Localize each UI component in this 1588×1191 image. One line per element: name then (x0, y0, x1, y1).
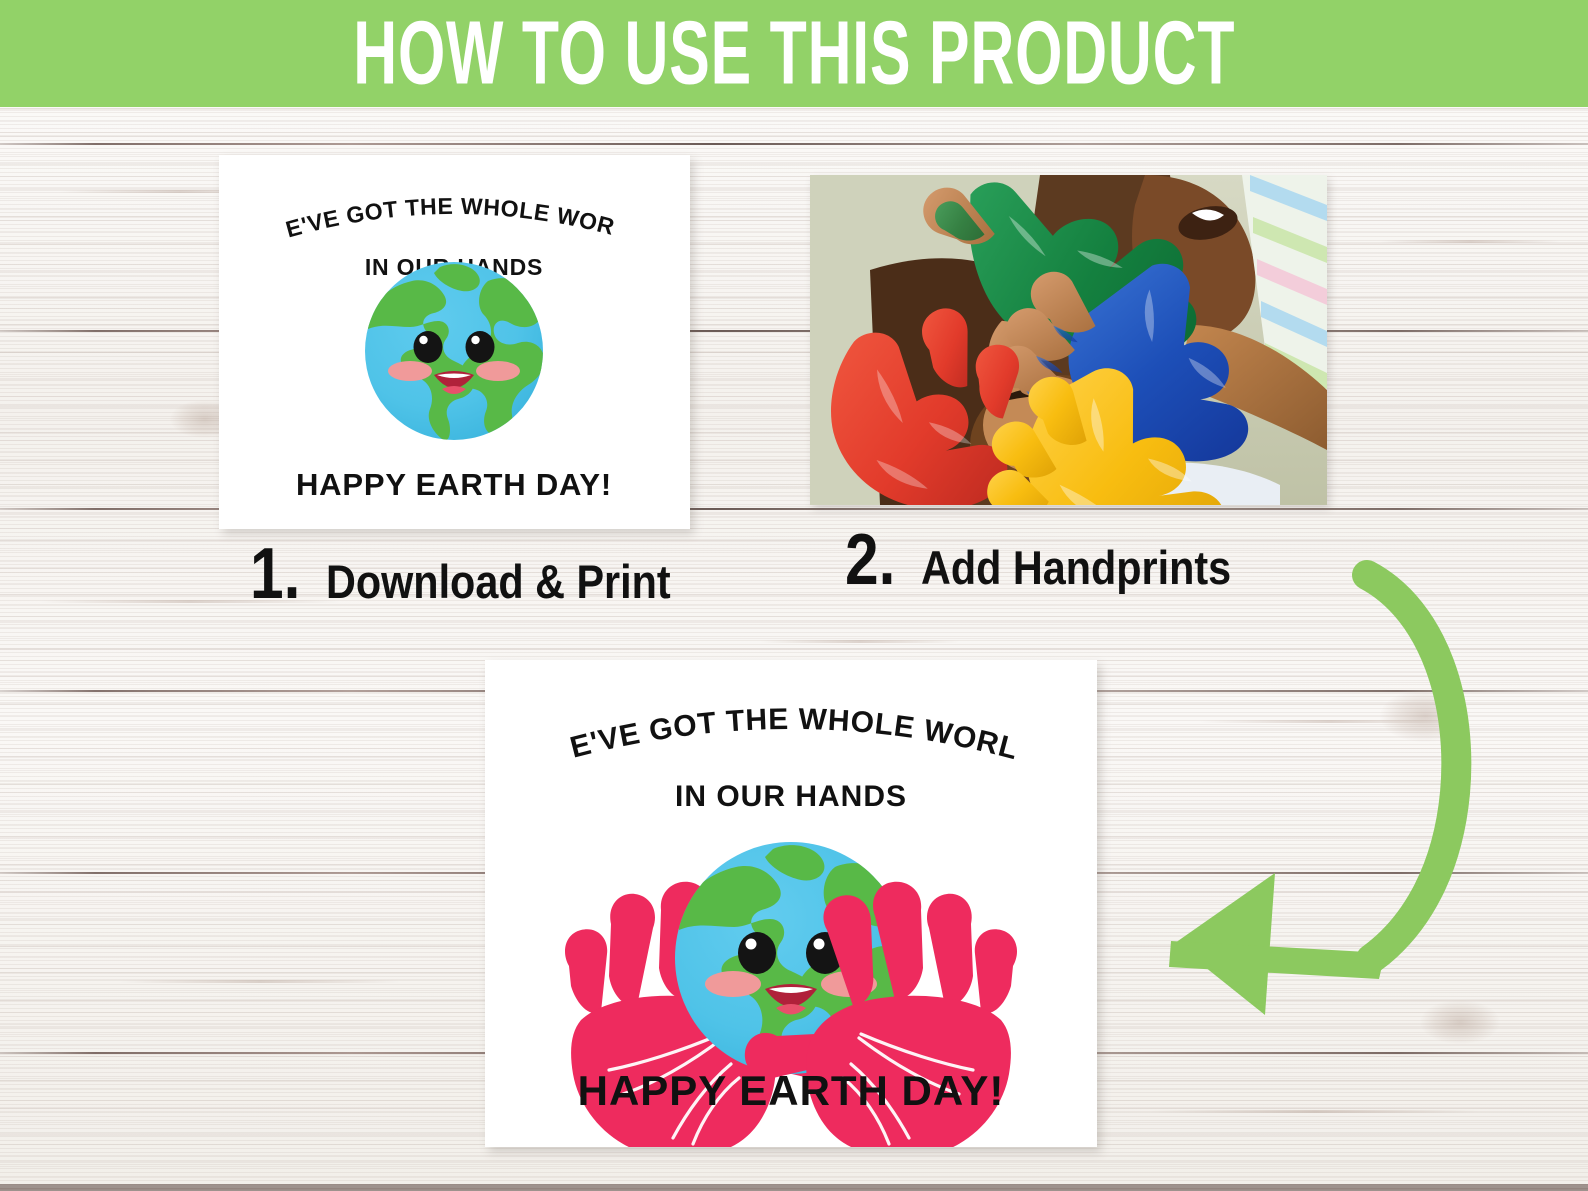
poster: HOW TO USE THIS PRODUCT WE'VE GOT THE WH… (0, 0, 1588, 1191)
printable-bottom-line1: WE'VE GOT THE WHOLE WORLD (485, 660, 1022, 766)
printable-card-with-handprints-art: WE'VE GOT THE WHOLE WORLD IN OUR HANDS (485, 660, 1097, 1147)
step-1-label: Download & Print (326, 558, 671, 605)
printable-bottom-footer: HAPPY EARTH DAY! (578, 1067, 1005, 1114)
printable-card-plain-art: WE'VE GOT THE WHOLE WORLD IN OUR HANDS (219, 155, 690, 529)
printable-top-footer: HAPPY EARTH DAY! (296, 467, 612, 502)
header-banner: HOW TO USE THIS PRODUCT (0, 0, 1588, 107)
curved-arrow-icon (1135, 555, 1575, 1025)
step-1-number: 1. (250, 538, 300, 610)
printable-bottom-line2: IN OUR HANDS (675, 780, 907, 813)
step-2-number: 2. (845, 524, 895, 596)
wood-grain (1380, 240, 1560, 243)
printable-top-line1: WE'VE GOT THE WHOLE WORLD (219, 155, 618, 243)
printable-card-with-handprints: WE'VE GOT THE WHOLE WORLD IN OUR HANDS (485, 660, 1097, 1147)
step-1: 1. Download & Print (250, 538, 718, 610)
printable-card-plain: WE'VE GOT THE WHOLE WORLD IN OUR HANDS (219, 155, 690, 529)
wood-grain (1150, 1110, 1480, 1113)
page-title: HOW TO USE THIS PRODUCT (353, 9, 1235, 99)
wood-grain (760, 640, 960, 643)
handprint-photo (810, 175, 1327, 505)
plank-divider (0, 143, 1588, 145)
wood-grain (120, 980, 400, 983)
